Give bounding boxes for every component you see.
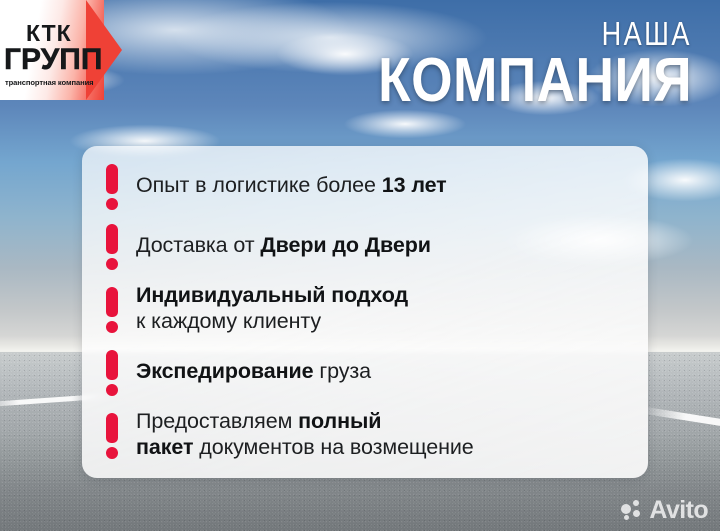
list-item: Предоставляем полный пакет документов на… [104,409,630,460]
text-plain: документов на возмещение [193,435,473,459]
list-item: Экспедирование груза [104,350,630,394]
company-logo[interactable]: КТК ГРУПП транспортная компания [0,0,122,100]
list-item-line: Индивидуальный подход [136,283,408,308]
list-item-line: Опыт в логистике более 13 лет [136,173,447,198]
avito-watermark: Avito [621,498,708,523]
promo-banner: КТК ГРУПП транспортная компания НАША КОМ… [0,0,720,531]
benefits-card: Опыт в логистике более 13 лет Доставка о… [82,146,648,478]
list-item-line: Предоставляем полный [136,409,474,434]
list-item-line: к каждому клиенту [136,309,408,334]
exclamation-mark-icon [104,224,120,268]
text-bold: полный [298,409,381,433]
page-title: НАША КОМПАНИЯ [327,18,692,111]
text-bold: Экспедирование [136,359,313,383]
exclamation-mark-icon [104,164,120,208]
list-item-text: Доставка от Двери до Двери [136,233,431,258]
list-item: Опыт в логистике более 13 лет [104,164,630,208]
logo-name: КТК [26,22,72,45]
list-item-text: Индивидуальный подход к каждому клиенту [136,283,408,334]
text-plain: к каждому клиенту [136,309,321,333]
list-item-line: Экспедирование груза [136,359,371,384]
text-plain: Опыт в логистике более [136,173,382,197]
list-item-text: Опыт в логистике более 13 лет [136,173,447,198]
benefits-list: Опыт в логистике более 13 лет Доставка о… [82,146,648,478]
text-plain: Доставка от [136,233,260,257]
text-bold: Двери до Двери [260,233,430,257]
avito-label: Avito [649,498,708,523]
text-bold: пакет [136,435,193,459]
list-item: Доставка от Двери до Двери [104,224,630,268]
logo-tagline: транспортная компания [5,79,93,87]
title-line-1: НАША [393,18,692,49]
list-item: Индивидуальный подход к каждому клиенту [104,283,630,334]
list-item-text: Предоставляем полный пакет документов на… [136,409,474,460]
exclamation-mark-icon [104,350,120,394]
text-bold: Индивидуальный подход [136,283,408,307]
avito-dots-icon [621,500,644,522]
text-plain: груза [313,359,371,383]
logo-word: ГРУПП [4,45,102,75]
text-bold: 13 лет [382,173,447,197]
list-item-text: Экспедирование груза [136,359,371,384]
list-item-line: пакет документов на возмещение [136,435,474,460]
exclamation-mark-icon [104,413,120,457]
title-line-2: КОМПАНИЯ [378,51,692,111]
list-item-line: Доставка от Двери до Двери [136,233,431,258]
exclamation-mark-icon [104,287,120,331]
text-plain: Предоставляем [136,409,298,433]
